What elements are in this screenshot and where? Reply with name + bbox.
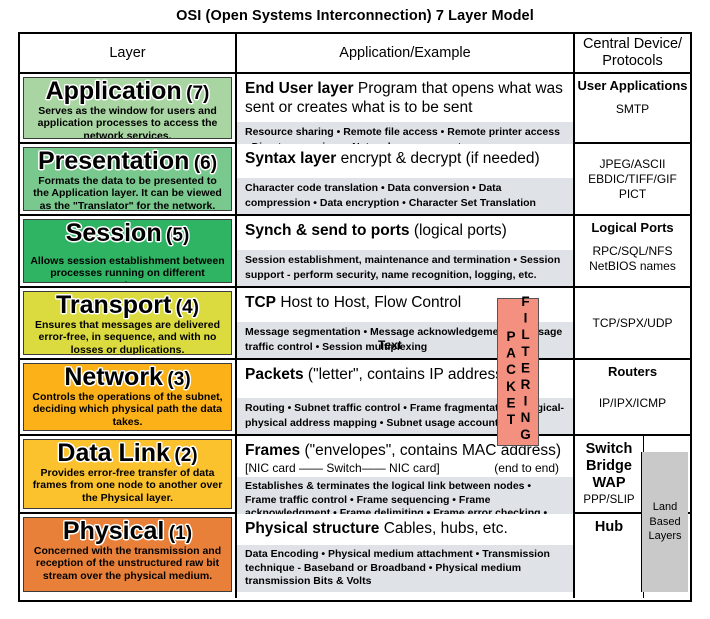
device-cell-2: Switch Bridge WAP PPP/SLIP [575, 436, 644, 512]
layer-row-network: Network (3) Controls the operations of t… [20, 360, 690, 436]
device-box-2: Switch Bridge WAP PPP/SLIP [575, 436, 643, 512]
end-to-end-label: (end to end) [494, 461, 559, 475]
layer-box-network: Network (3) Controls the operations of t… [23, 363, 232, 431]
layer-desc-physical: Concerned with the transmission and rece… [24, 544, 231, 582]
device-cell-1: Hub [575, 514, 644, 598]
layer-name-transport: Transport (4) [56, 293, 199, 318]
layer-box-presentation: Presentation (6) Formats the data to be … [23, 147, 232, 211]
device-cell-3: Routers IP/IPX/ICMP [575, 360, 690, 434]
layer-row-application: Application (7) Serves as the window for… [20, 74, 690, 144]
application-cell-6: Syntax layer encrypt & decrypt (if neede… [235, 144, 575, 214]
layer-cell-session: Session (5) Allows session establishment… [20, 216, 235, 286]
land-based-layers-band: Land Based Layers [641, 452, 688, 592]
application-cell-7: End User layer Program that opens what w… [235, 74, 575, 142]
layer-desc-network: Controls the operations of the subnet, d… [24, 390, 231, 428]
app-head-1: Physical structure Cables, hubs, etc. [237, 514, 573, 543]
layer-name-application: Application (7) [46, 79, 210, 104]
application-cell-2: Frames ("envelopes", contains MAC addres… [235, 436, 575, 512]
device-box-3: Routers IP/IPX/ICMP [575, 360, 690, 434]
layer-name-physical: Physical (1) [63, 519, 192, 544]
device-main-2: Switch Bridge WAP [575, 441, 643, 492]
land-based-layers-label: Land Based Layers [642, 500, 688, 544]
packet-label: PACKET [504, 329, 518, 429]
layer-row-session: Session (5) Allows session establishment… [20, 216, 690, 288]
device-cell-5: Logical Ports RPC/SQL/NFS NetBIOS names [575, 216, 690, 286]
device-main-7: User Applications [577, 79, 687, 94]
application-cell-5: Synch & send to ports (logical ports) Se… [235, 216, 575, 286]
layer-box-transport: Transport (4) Ensures that messages are … [23, 291, 232, 355]
device-main-5: Logical Ports [591, 221, 673, 236]
app-sub-1: Data Encoding • Physical medium attachme… [237, 545, 573, 592]
device-cell-4: TCP/SPX/UDP [575, 288, 690, 358]
header-application-label: Application/Example [237, 34, 573, 72]
layer-row-presentation: Presentation (6) Formats the data to be … [20, 144, 690, 216]
page-title: OSI (Open Systems Interconnection) 7 Lay… [0, 8, 710, 24]
device-cell-6: JPEG/ASCII EBDIC/TIFF/GIF PICT [575, 144, 690, 214]
device-box-1: Hub [575, 514, 643, 592]
layer-cell-datalink: Data Link (2) Provides error-free transf… [20, 436, 235, 512]
device-box-6: JPEG/ASCII EBDIC/TIFF/GIF PICT [575, 144, 690, 214]
layer-desc-datalink: Provides error-free transfer of data fra… [24, 466, 231, 504]
layer-box-application: Application (7) Serves as the window for… [23, 77, 232, 139]
app-head-5: Synch & send to ports (logical ports) [237, 216, 573, 245]
layer-box-session: Session (5) Allows session establishment… [23, 219, 232, 283]
layer-box-datalink: Data Link (2) Provides error-free transf… [23, 439, 232, 509]
layer-cell-presentation: Presentation (6) Formats the data to be … [20, 144, 235, 214]
device-proto-6: JPEG/ASCII EBDIC/TIFF/GIF PICT [588, 157, 677, 202]
header-device-line1: Central Device/ [583, 36, 682, 53]
layer-name-session: Session (5) [66, 221, 190, 246]
osi-table: Layer Application/Example Central Device… [18, 32, 692, 602]
osi-model-diagram: OSI (Open Systems Interconnection) 7 Lay… [0, 0, 710, 619]
layer-desc-session: Allows session establishment between pro… [24, 246, 231, 283]
header-device-wrap: Central Device/ Protocols [575, 34, 690, 72]
layer-row-physical: Physical (1) Concerned with the transmis… [20, 514, 690, 598]
header-device-line2: Protocols [602, 53, 662, 70]
layer-cell-application: Application (7) Serves as the window for… [20, 74, 235, 142]
device-proto-3: IP/IPX/ICMP [599, 396, 666, 411]
device-box-5: Logical Ports RPC/SQL/NFS NetBIOS names [575, 216, 690, 286]
header-layer-label: Layer [20, 34, 235, 72]
app-head-7: End User layer Program that opens what w… [237, 74, 573, 122]
device-box-4: TCP/SPX/UDP [575, 288, 690, 358]
app-head-2-extra: [NIC card —— Switch—— NIC card] (end to … [237, 461, 573, 477]
table-header-row: Layer Application/Example Central Device… [20, 34, 690, 74]
application-cell-1: Physical structure Cables, hubs, etc. Da… [235, 514, 575, 598]
layer-row-transport: Transport (4) Ensures that messages are … [20, 288, 690, 360]
device-proto-7: SMTP [616, 102, 649, 117]
device-cell-7: User Applications SMTP [575, 74, 690, 142]
device-proto-5: RPC/SQL/NFS NetBIOS names [589, 244, 676, 274]
layer-desc-application: Serves as the window for users and appli… [24, 104, 231, 139]
filtering-label: FILTERING [519, 294, 533, 443]
header-cell-device: Central Device/ Protocols [575, 34, 690, 72]
layer-desc-presentation: Formats the data to be presented to the … [24, 174, 231, 211]
packet-filtering-band: PACKET FILTERING [497, 298, 539, 446]
device-main-3: Routers [608, 365, 657, 380]
app-sub-6: Character code translation • Data conver… [237, 178, 573, 214]
layer-cell-transport: Transport (4) Ensures that messages are … [20, 288, 235, 358]
device-proto-2: PPP/SLIP [583, 493, 634, 507]
layer-box-physical: Physical (1) Concerned with the transmis… [23, 517, 232, 592]
layer-name-presentation: Presentation (6) [38, 149, 217, 174]
header-cell-application: Application/Example [235, 34, 575, 72]
device-main-1: Hub [595, 519, 623, 536]
layer-cell-physical: Physical (1) Concerned with the transmis… [20, 514, 235, 598]
app-sub-5: Session establishment, maintenance and t… [237, 250, 573, 286]
layer-name-datalink: Data Link (2) [57, 441, 197, 466]
layer-desc-transport: Ensures that messages are delivered erro… [24, 318, 231, 355]
device-proto-4: TCP/SPX/UDP [592, 316, 672, 331]
layer-cell-network: Network (3) Controls the operations of t… [20, 360, 235, 434]
layer-name-network: Network (3) [64, 365, 190, 390]
nic-path-label: [NIC card —— Switch—— NIC card] [245, 461, 440, 475]
header-cell-layer: Layer [20, 34, 235, 72]
app-head-6: Syntax layer encrypt & decrypt (if neede… [237, 144, 573, 173]
text-watermark: Text [378, 337, 402, 354]
layer-row-datalink: Data Link (2) Provides error-free transf… [20, 436, 690, 514]
device-box-7: User Applications SMTP [575, 74, 690, 142]
